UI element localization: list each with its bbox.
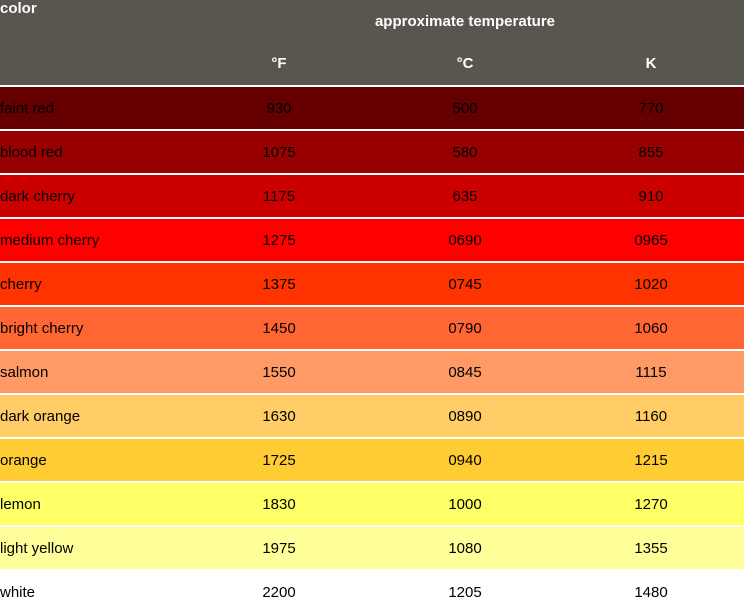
cell-color-name: white	[0, 570, 186, 614]
cell-fahrenheit: 1830	[186, 482, 372, 526]
cell-fahrenheit: 1275	[186, 218, 372, 262]
header-unit-fahrenheit: °F	[186, 42, 372, 86]
cell-kelvin: 1355	[558, 526, 744, 570]
cell-fahrenheit: 1175	[186, 174, 372, 218]
cell-celsius: 580	[372, 130, 558, 174]
cell-fahrenheit: 1725	[186, 438, 372, 482]
cell-celsius: 0745	[372, 262, 558, 306]
table-row: faint red930500770	[0, 86, 744, 130]
cell-celsius: 500	[372, 86, 558, 130]
table-header: color approximate temperature °F °C K	[0, 0, 744, 86]
cell-celsius: 635	[372, 174, 558, 218]
cell-kelvin: 1160	[558, 394, 744, 438]
cell-kelvin: 855	[558, 130, 744, 174]
color-temperature-table: color approximate temperature °F °C K fa…	[0, 0, 744, 614]
cell-kelvin: 1020	[558, 262, 744, 306]
cell-color-name: light yellow	[0, 526, 186, 570]
table-row: dark cherry1175635910	[0, 174, 744, 218]
cell-celsius: 0690	[372, 218, 558, 262]
cell-fahrenheit: 1375	[186, 262, 372, 306]
cell-color-name: bright cherry	[0, 306, 186, 350]
table-row: salmon155008451115	[0, 350, 744, 394]
header-color: color	[0, 0, 186, 86]
cell-fahrenheit: 1550	[186, 350, 372, 394]
cell-fahrenheit: 1075	[186, 130, 372, 174]
cell-kelvin: 910	[558, 174, 744, 218]
cell-celsius: 1205	[372, 570, 558, 614]
cell-fahrenheit: 1630	[186, 394, 372, 438]
table-body: faint red930500770blood red1075580855dar…	[0, 86, 744, 614]
cell-color-name: faint red	[0, 86, 186, 130]
table-row: dark orange163008901160	[0, 394, 744, 438]
table-row: white220012051480	[0, 570, 744, 614]
cell-color-name: cherry	[0, 262, 186, 306]
cell-color-name: dark orange	[0, 394, 186, 438]
table-row: medium cherry127506900965	[0, 218, 744, 262]
cell-celsius: 0790	[372, 306, 558, 350]
cell-color-name: salmon	[0, 350, 186, 394]
header-unit-celsius: °C	[372, 42, 558, 86]
cell-celsius: 0845	[372, 350, 558, 394]
cell-color-name: orange	[0, 438, 186, 482]
cell-kelvin: 0965	[558, 218, 744, 262]
cell-kelvin: 1480	[558, 570, 744, 614]
header-row-primary: color approximate temperature	[0, 0, 744, 42]
cell-fahrenheit: 930	[186, 86, 372, 130]
table-row: lemon183010001270	[0, 482, 744, 526]
cell-fahrenheit: 2200	[186, 570, 372, 614]
cell-fahrenheit: 1975	[186, 526, 372, 570]
cell-color-name: blood red	[0, 130, 186, 174]
cell-color-name: lemon	[0, 482, 186, 526]
table-row: cherry137507451020	[0, 262, 744, 306]
cell-kelvin: 1270	[558, 482, 744, 526]
table-row: bright cherry145007901060	[0, 306, 744, 350]
cell-kelvin: 1115	[558, 350, 744, 394]
header-unit-kelvin: K	[558, 42, 744, 86]
cell-color-name: dark cherry	[0, 174, 186, 218]
table-row: blood red1075580855	[0, 130, 744, 174]
table-row: orange172509401215	[0, 438, 744, 482]
table-row: light yellow197510801355	[0, 526, 744, 570]
cell-kelvin: 770	[558, 86, 744, 130]
cell-fahrenheit: 1450	[186, 306, 372, 350]
header-approximate-temperature: approximate temperature	[186, 0, 744, 42]
cell-kelvin: 1060	[558, 306, 744, 350]
cell-celsius: 0940	[372, 438, 558, 482]
cell-color-name: medium cherry	[0, 218, 186, 262]
cell-celsius: 1000	[372, 482, 558, 526]
cell-celsius: 0890	[372, 394, 558, 438]
cell-celsius: 1080	[372, 526, 558, 570]
cell-kelvin: 1215	[558, 438, 744, 482]
